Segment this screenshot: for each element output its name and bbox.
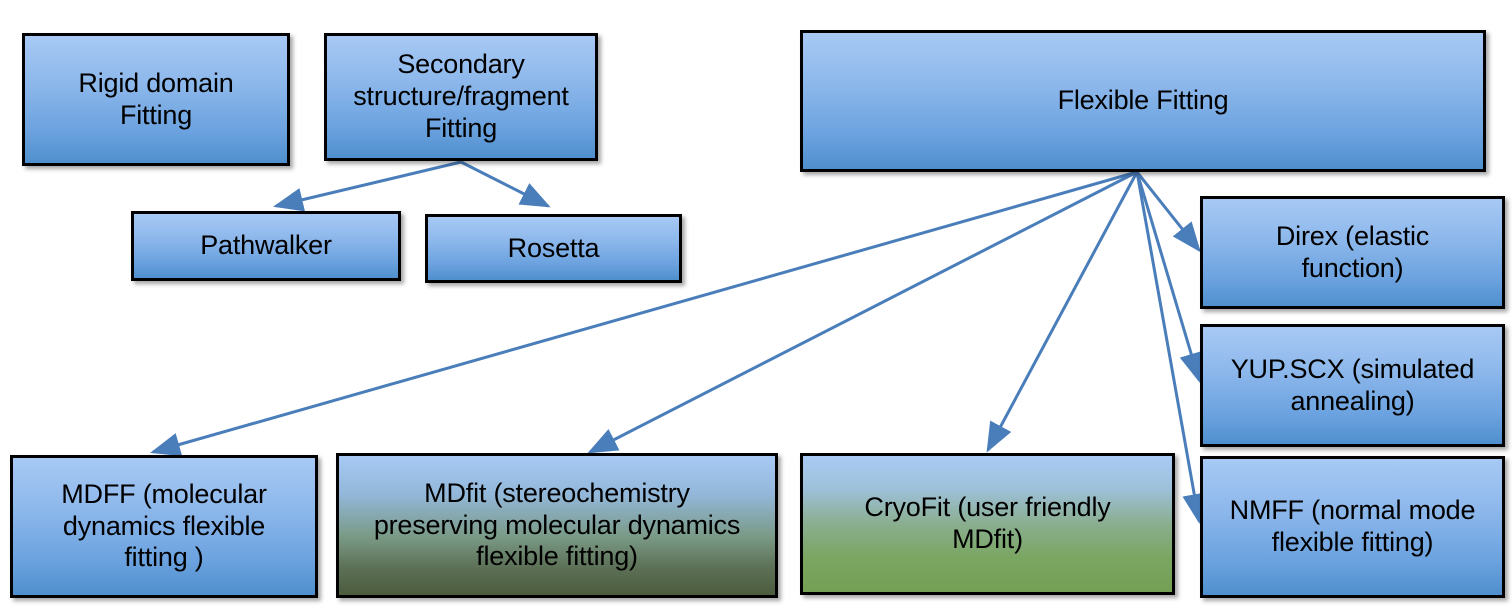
node-label: Direx (elasticfunction) (1211, 221, 1494, 285)
node-label: MDfit (stereochemistrypreserving molecul… (347, 478, 767, 574)
node-label: YUP.SCX (simulatedannealing) (1211, 354, 1494, 418)
node-label: MDFF (moleculardynamics flexiblefitting … (21, 479, 307, 575)
node-label: Flexible Fitting (811, 85, 1475, 117)
node-label: Pathwalker (142, 230, 390, 262)
node-label: NMFF (normal modeflexible fitting) (1211, 495, 1494, 559)
node-rosetta[interactable]: Rosetta (425, 214, 682, 283)
edge-secondary-to-rosetta (461, 162, 548, 206)
node-label: Rosetta (436, 233, 671, 265)
node-nmff[interactable]: NMFF (normal modeflexible fitting) (1200, 456, 1505, 598)
edge-secondary-to-pathwalker (276, 162, 461, 206)
node-rigid-domain-fitting[interactable]: Rigid domainFitting (22, 33, 290, 166)
node-secondary-structure-fitting[interactable]: Secondarystructure/fragmentFitting (324, 33, 598, 161)
node-yup-scx[interactable]: YUP.SCX (simulatedannealing) (1200, 324, 1505, 447)
node-mdfit[interactable]: MDfit (stereochemistrypreserving molecul… (336, 453, 778, 598)
node-flexible-fitting[interactable]: Flexible Fitting (800, 30, 1486, 172)
edge-flexible-to-yupscx (1137, 172, 1199, 380)
node-label: CryoFit (user friendlyMDfit) (811, 492, 1164, 556)
edge-flexible-to-direx (1137, 172, 1199, 250)
node-direx[interactable]: Direx (elasticfunction) (1200, 196, 1505, 309)
node-label: Rigid domainFitting (33, 68, 279, 132)
node-mdff[interactable]: MDFF (moleculardynamics flexiblefitting … (10, 455, 318, 598)
edge-flexible-to-cryofit (988, 172, 1137, 450)
node-pathwalker[interactable]: Pathwalker (131, 211, 401, 281)
node-label: Secondarystructure/fragmentFitting (335, 49, 587, 145)
node-cryofit[interactable]: CryoFit (user friendlyMDfit) (800, 453, 1175, 595)
diagram-canvas: Rigid domainFitting Secondarystructure/f… (0, 0, 1512, 610)
